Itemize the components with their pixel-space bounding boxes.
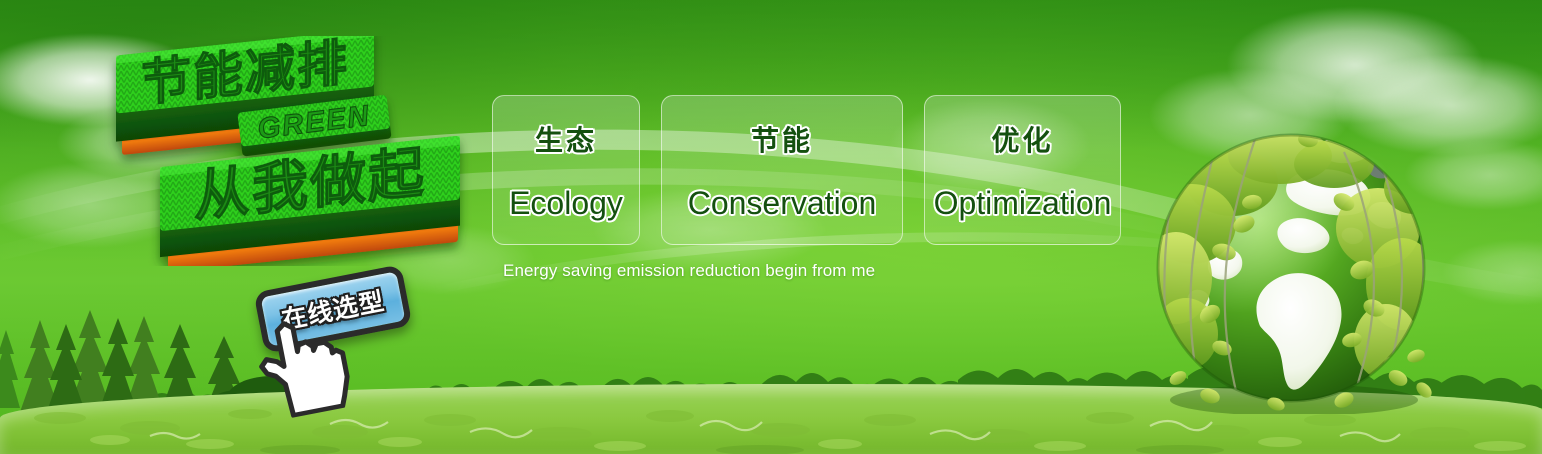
headline-3d-title: 节能减排 GREEN 从我做起 — [96, 36, 476, 266]
feature-card-conservation-en: Conservation — [688, 185, 877, 222]
feature-card-conservation[interactable]: 节能 Conservation — [661, 95, 903, 245]
feature-card-optimization-cn: 优化 — [991, 119, 1053, 159]
feature-card-list: 生态 Ecology 节能 Conservation 优化 Optimizati… — [492, 95, 1121, 245]
green-energy-banner: 节能减排 GREEN 从我做起 在线选型 — [0, 0, 1542, 454]
pointing-hand-cursor-icon — [245, 303, 359, 423]
banner-tagline: Energy saving emission reduction begin f… — [503, 261, 875, 281]
feature-card-ecology-en: Ecology — [509, 185, 623, 222]
vine-covered-earth-globe — [1148, 128, 1434, 414]
feature-card-ecology-cn: 生态 — [535, 119, 597, 159]
feature-card-optimization[interactable]: 优化 Optimization — [924, 95, 1121, 245]
feature-card-ecology[interactable]: 生态 Ecology — [492, 95, 640, 245]
feature-card-conservation-cn: 节能 — [751, 119, 813, 159]
feature-card-optimization-en: Optimization — [934, 185, 1112, 222]
